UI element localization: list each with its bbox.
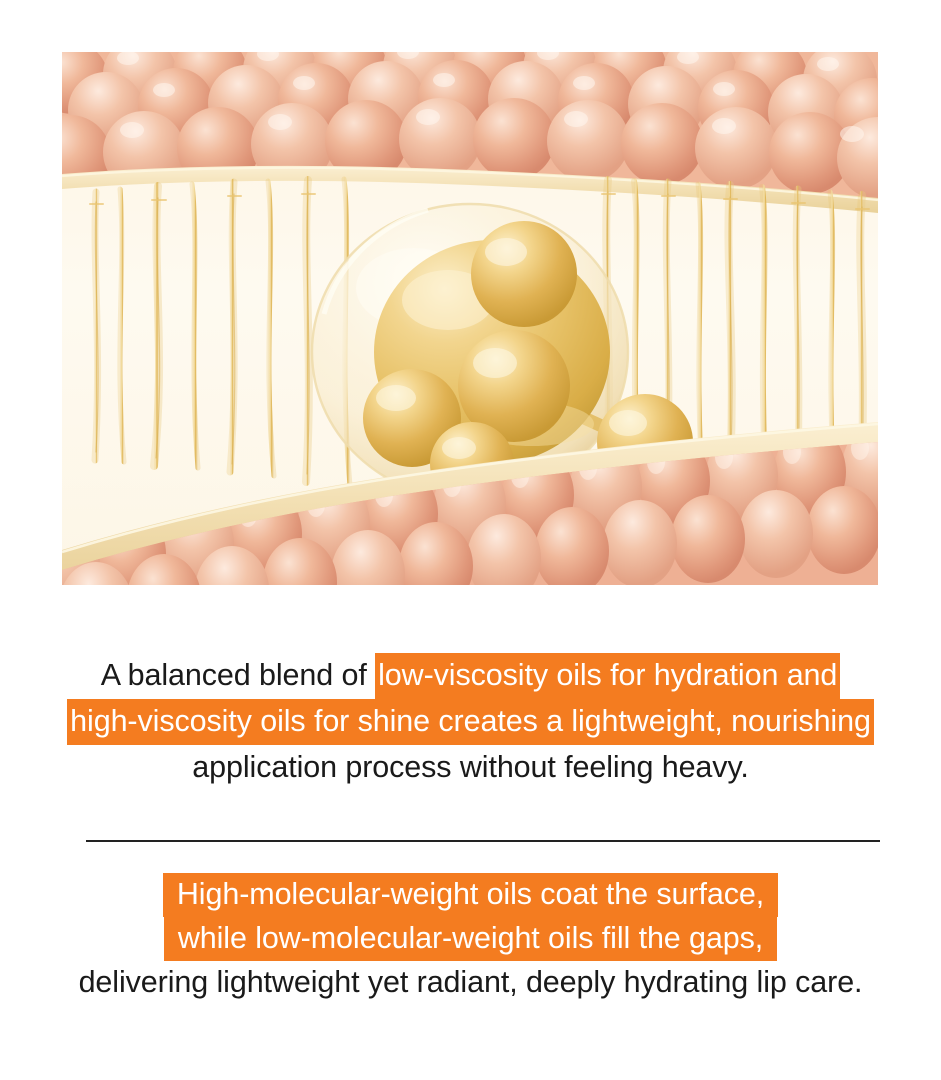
copy-line-2: while low-molecular-weight oils fill the… [0, 916, 941, 960]
section-divider [86, 840, 880, 842]
copy-line-1: A balanced blend of low-viscosity oils f… [0, 652, 941, 698]
benefit-statement-secondary: High-molecular-weight oils coat the surf… [0, 872, 941, 1004]
copy-segment-highlight: low-viscosity oils for hydration and [375, 653, 840, 699]
copy-line-1: High-molecular-weight oils coat the surf… [0, 872, 941, 916]
copy-segment-plain: without feeling heavy. [451, 750, 748, 784]
hero-image [62, 52, 878, 585]
copy-segment-highlight: high-viscosity oils for shine creates a … [67, 699, 874, 745]
copy-segment-highlight: High-molecular-weight oils coat the surf… [163, 873, 778, 917]
skin-cross-section-graphic [62, 52, 878, 585]
copy-segment-plain: application process [192, 750, 451, 784]
copy-line-3: application process without feeling heav… [0, 744, 941, 790]
copy-segment-highlight: while low-molecular-weight oils fill the… [164, 917, 777, 961]
copy-segment-plain: delivering lightweight yet radiant, deep… [79, 965, 863, 999]
benefit-statement-primary: A balanced blend of low-viscosity oils f… [0, 652, 941, 790]
copy-line-3: delivering lightweight yet radiant, deep… [0, 960, 941, 1004]
copy-line-2: high-viscosity oils for shine creates a … [0, 698, 941, 744]
copy-segment-plain: A balanced blend of [101, 658, 375, 692]
